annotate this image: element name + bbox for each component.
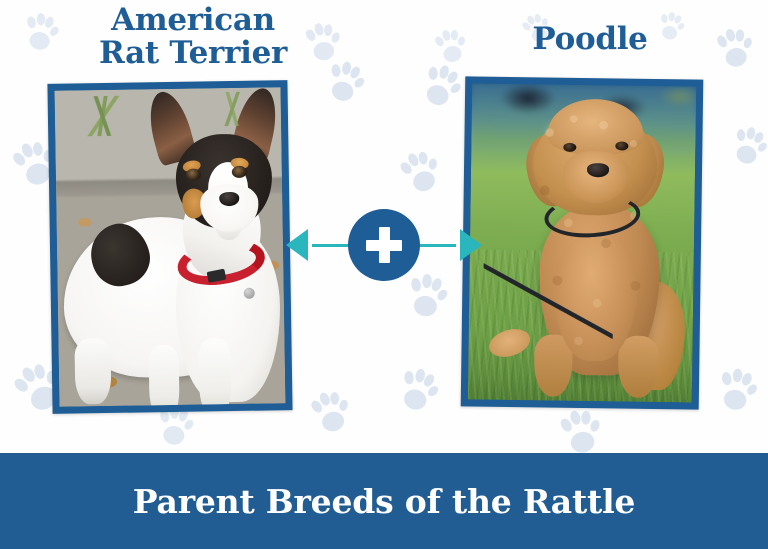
- paw-print-icon: [391, 363, 444, 419]
- rat-terrier-image: [55, 87, 286, 407]
- plus-vertical-bar: [379, 227, 390, 263]
- right-breed-photo-frame: [461, 76, 704, 409]
- right-breed-title: Poodle: [430, 23, 750, 56]
- poodle-image: [468, 83, 696, 402]
- poodle-eye-left: [563, 143, 576, 152]
- left-breed-photo: [55, 87, 286, 407]
- breed-cross-connector: [284, 210, 484, 280]
- paw-print-icon: [725, 122, 768, 171]
- infographic-root: American Rat Terrier Poodle: [0, 0, 768, 549]
- left-breed-title: American Rat Terrier: [18, 4, 368, 71]
- plus-icon: [348, 209, 420, 281]
- banner-title: Parent Breeds of the Rattle: [133, 482, 635, 521]
- poodle-nose: [587, 163, 609, 177]
- terrier-front-leg-left: [198, 338, 231, 407]
- left-breed-title-line2: Rat Terrier: [18, 37, 368, 70]
- poodle-eye-right: [615, 141, 628, 150]
- left-breed-photo-frame: [47, 80, 292, 414]
- paw-print-icon: [556, 406, 607, 460]
- terrier-collar-tag: [244, 288, 255, 299]
- paw-print-icon: [712, 365, 762, 418]
- arrow-left-icon: [286, 229, 308, 261]
- terrier-front-leg-right: [149, 345, 180, 407]
- bottom-banner: Parent Breeds of the Rattle: [0, 453, 768, 549]
- left-breed-title-line1: American: [18, 4, 368, 37]
- right-breed-photo: [468, 83, 696, 402]
- paw-print-icon: [394, 145, 447, 200]
- terrier-hind-leg: [74, 338, 111, 405]
- paw-print-icon: [306, 387, 356, 439]
- arrow-right-icon: [460, 229, 482, 261]
- paw-print-icon: [414, 59, 468, 115]
